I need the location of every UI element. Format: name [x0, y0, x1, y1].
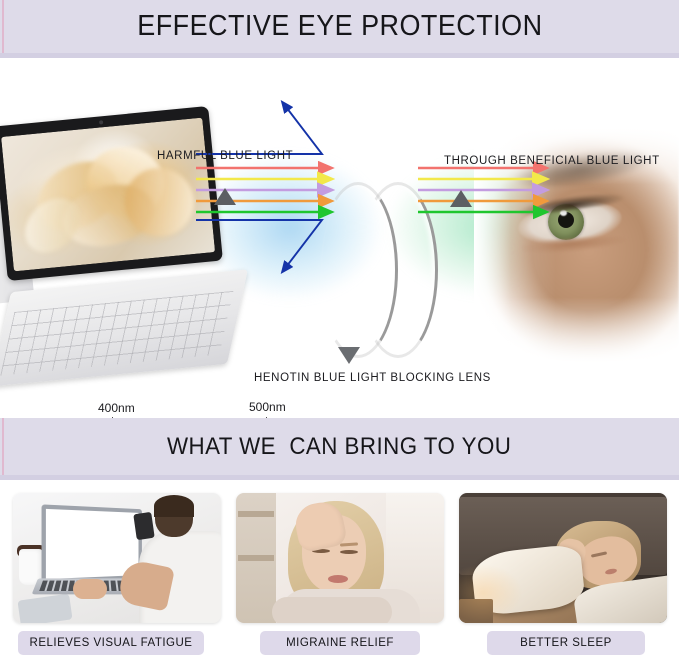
tick-label-500nm: 500nm	[249, 400, 286, 414]
light-path-diagram: HARMFUL BLUE LIGHT THROUGH BENEFICIAL BL…	[0, 58, 679, 418]
lamp-glow	[459, 553, 549, 623]
label-blocking-lens: HENOTIN BLUE LIGHT BLOCKING LENS	[254, 372, 491, 384]
header-banner: EFFECTIVE EYE PROTECTION	[0, 0, 679, 58]
shelf-board	[238, 511, 274, 517]
label-through-beneficial-blue-light: THROUGH BENEFICIAL BLUE LIGHT	[444, 155, 660, 167]
infographic-page: EFFECTIVE EYE PROTECTION	[0, 0, 679, 658]
person-lips	[328, 575, 348, 583]
person-hair	[154, 495, 194, 517]
benefit-caption-2: MIGRAINE RELIEF	[260, 631, 420, 655]
benefit-image-relieves-visual-fatigue	[13, 493, 221, 623]
triangle-down-icon	[338, 347, 360, 364]
person-arm	[272, 597, 392, 623]
phone-stand	[133, 512, 154, 540]
person-hand	[73, 579, 107, 599]
benefit-image-better-sleep	[459, 493, 667, 623]
section-banner: WHAT WE CAN BRING TO YOU	[0, 418, 679, 480]
benefit-image-migraine-relief	[236, 493, 444, 623]
banner-left-edge-accent	[2, 418, 4, 475]
ray-blue-reflected-bottom	[196, 220, 322, 271]
benefit-caption-3: BETTER SLEEP	[487, 631, 645, 655]
triangle-up-icon	[450, 190, 472, 207]
label-harmful-blue-light: HARMFUL BLUE LIGHT	[157, 150, 293, 162]
banner-left-edge-accent	[2, 0, 4, 53]
shelf-board	[238, 555, 274, 561]
tick-label-400nm: 400nm	[98, 401, 135, 415]
benefits-row: RELIEVES VISUAL FATIGUE MIGRAINE RELIEF …	[0, 485, 679, 658]
light-rays	[0, 58, 679, 418]
person-eye-closed	[340, 550, 358, 554]
section-title: WHAT WE CAN BRING TO YOU	[167, 433, 511, 461]
benefit-caption-1: RELIEVES VISUAL FATIGUE	[18, 631, 204, 655]
light-spectrum-scale: 400nm 500nm HARMFUL BLUE LIGHT USEFUL LI…	[0, 398, 679, 418]
ray-blue-reflected-top	[196, 103, 322, 154]
triangle-up-icon	[214, 188, 236, 205]
page-title: EFFECTIVE EYE PROTECTION	[137, 10, 542, 43]
